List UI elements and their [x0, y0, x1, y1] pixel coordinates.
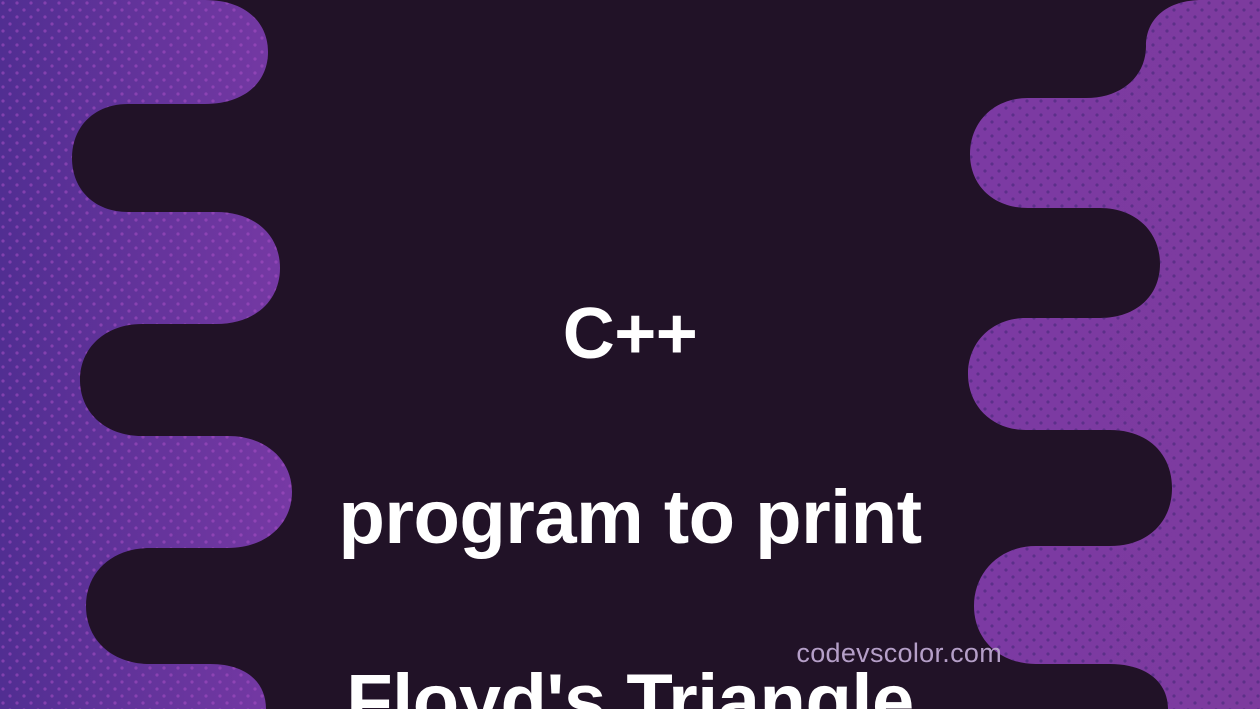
headline-title: C++ program to print Floyd's Triangle	[0, 196, 1260, 709]
site-watermark: codevscolor.com	[796, 638, 1002, 669]
banner-card: C++ program to print Floyd's Triangle co…	[0, 0, 1260, 709]
headline-line-3: Floyd's Triangle	[0, 656, 1260, 709]
headline-line-2: program to print	[0, 472, 1260, 564]
headline-line-1: C++	[0, 288, 1260, 380]
